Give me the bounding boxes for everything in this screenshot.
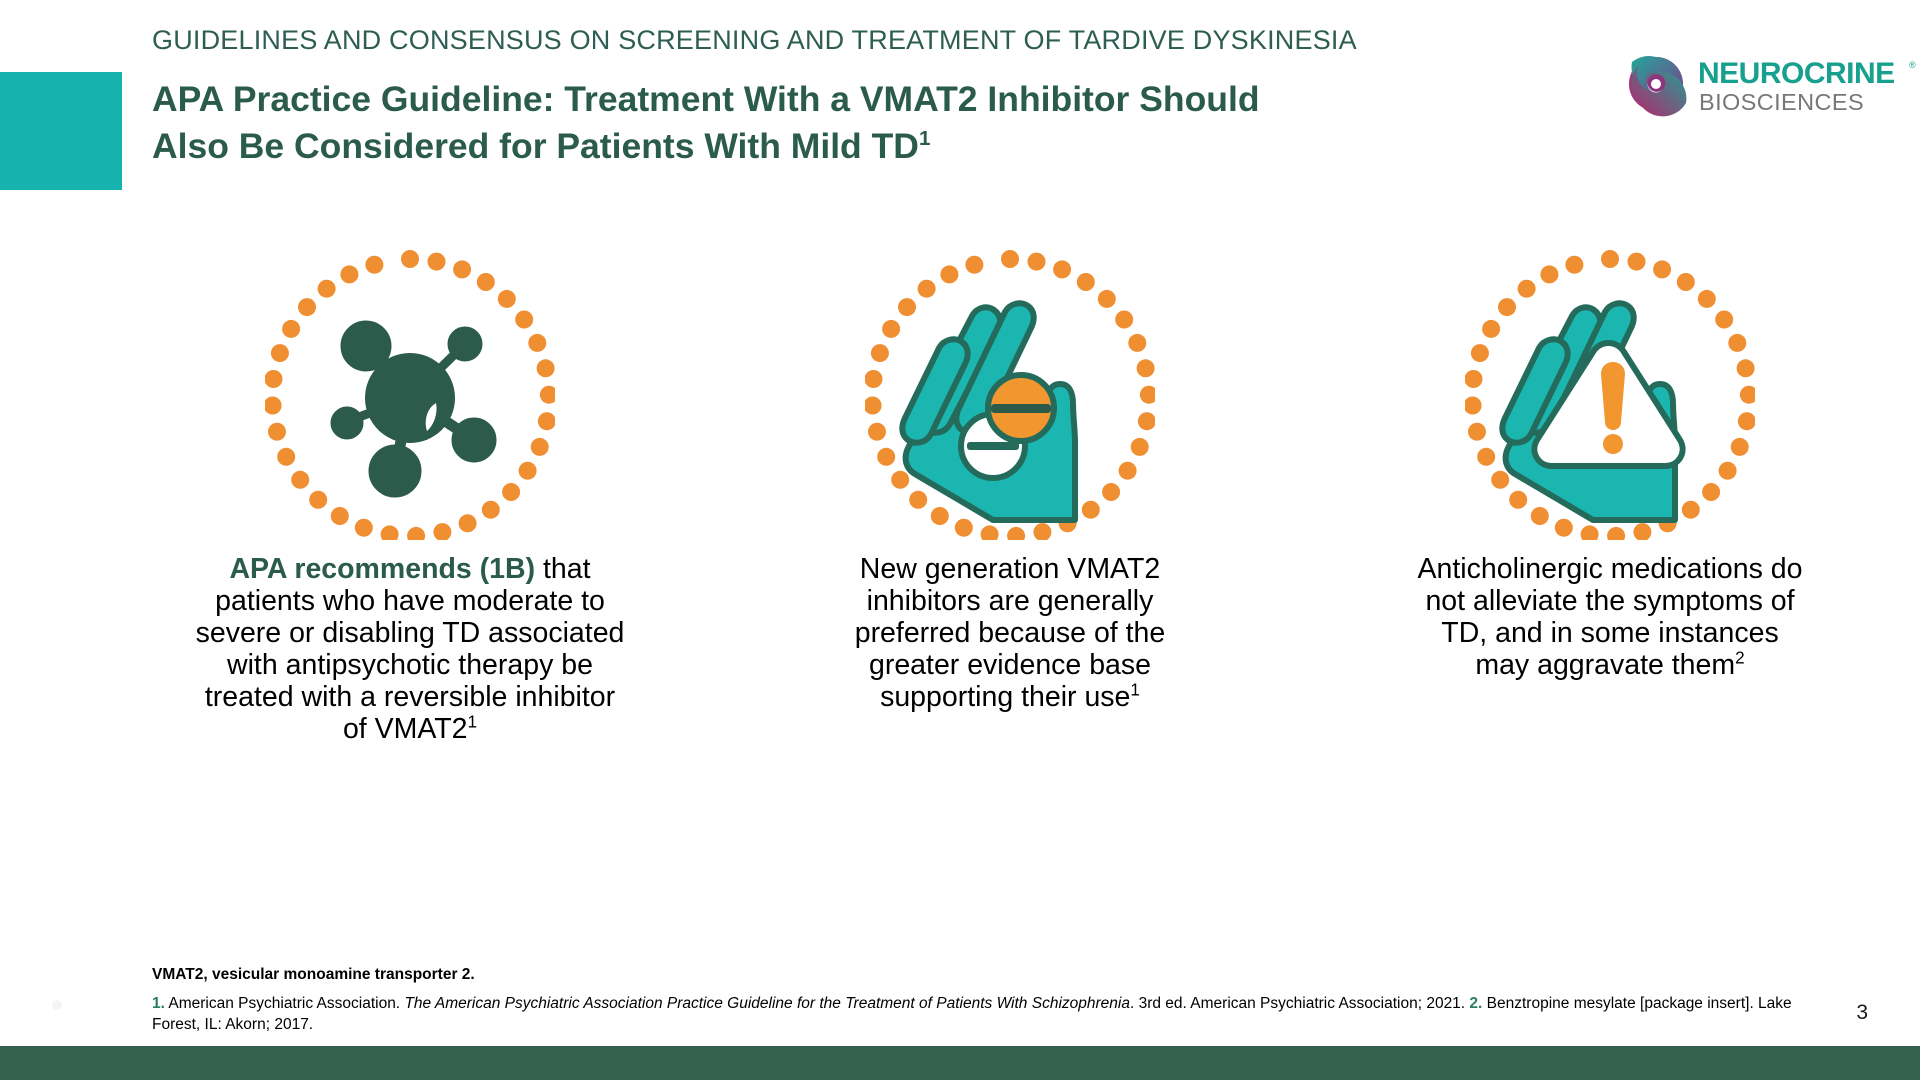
caption-footnote-marker: 2 xyxy=(1735,648,1745,667)
caption-body: New generation VMAT2 inhibitors are gene… xyxy=(855,553,1166,713)
page-number: 3 xyxy=(1856,1001,1868,1025)
caption-body: Anticholinergic medications do not allev… xyxy=(1418,553,1803,681)
teal-accent-block xyxy=(0,72,122,190)
logo-registered-mark: ® xyxy=(1909,60,1916,70)
decorative-artifact xyxy=(52,1000,62,1010)
reference-1-title: The American Psychiatric Association Pra… xyxy=(404,995,1130,1012)
title-line-2: Also Be Considered for Patients With Mil… xyxy=(152,126,919,166)
title-line-1: APA Practice Guideline: Treatment With a… xyxy=(152,79,1260,119)
logo-wordmark: NEUROCRINE xyxy=(1698,57,1895,90)
pill-orange xyxy=(988,375,1054,441)
column-anticholinergic-warning: Anticholinergic medications do not allev… xyxy=(1310,250,1910,745)
title-footnote-marker: 1 xyxy=(919,127,930,150)
caption-footnote-marker: 1 xyxy=(1130,680,1140,699)
reference-1-pre: American Psychiatric Association. xyxy=(165,995,405,1012)
column-vmat2-preferred: New generation VMAT2 inhibitors are gene… xyxy=(710,250,1310,745)
column-caption: New generation VMAT2 inhibitors are gene… xyxy=(835,554,1185,714)
hand-glyph xyxy=(902,303,1075,520)
reference-number-1: 1. xyxy=(152,995,165,1012)
column-apa-recommendation: APA recommends (1B) that patients who ha… xyxy=(110,250,710,745)
caption-footnote-marker: 1 xyxy=(468,712,478,731)
neurocrine-swirl-mark xyxy=(1629,56,1686,116)
molecule-glyph xyxy=(331,321,496,497)
molecule-icon xyxy=(265,250,555,540)
page-title: APA Practice Guideline: Treatment With a… xyxy=(152,76,1572,170)
neurocrine-logo: NEUROCRINE ® BIOSCIENCES xyxy=(1628,50,1920,120)
hand-with-warning-icon xyxy=(1465,250,1755,540)
slide-eyebrow: GUIDELINES AND CONSENSUS ON SCREENING AN… xyxy=(152,25,1572,56)
abbreviations-line: VMAT2, vesicular monoamine transporter 2… xyxy=(152,965,1812,986)
logo-subtitle: BIOSCIENCES xyxy=(1699,89,1864,115)
bottom-bar xyxy=(0,1046,1920,1080)
column-caption: Anticholinergic medications do not allev… xyxy=(1415,554,1805,682)
reference-1-post: . 3rd ed. American Psychiatric Associati… xyxy=(1130,995,1469,1012)
caption-lead: APA recommends (1B) xyxy=(229,553,535,585)
references-line: 1. American Psychiatric Association. The… xyxy=(152,994,1812,1036)
reference-number-2: 2. xyxy=(1469,995,1482,1012)
footnotes: VMAT2, vesicular monoamine transporter 2… xyxy=(152,965,1812,1036)
slide: GUIDELINES AND CONSENSUS ON SCREENING AN… xyxy=(0,0,1920,1080)
hand-with-pills-icon xyxy=(865,250,1155,540)
content-columns: APA recommends (1B) that patients who ha… xyxy=(0,250,1920,745)
column-caption: APA recommends (1B) that patients who ha… xyxy=(195,554,625,745)
